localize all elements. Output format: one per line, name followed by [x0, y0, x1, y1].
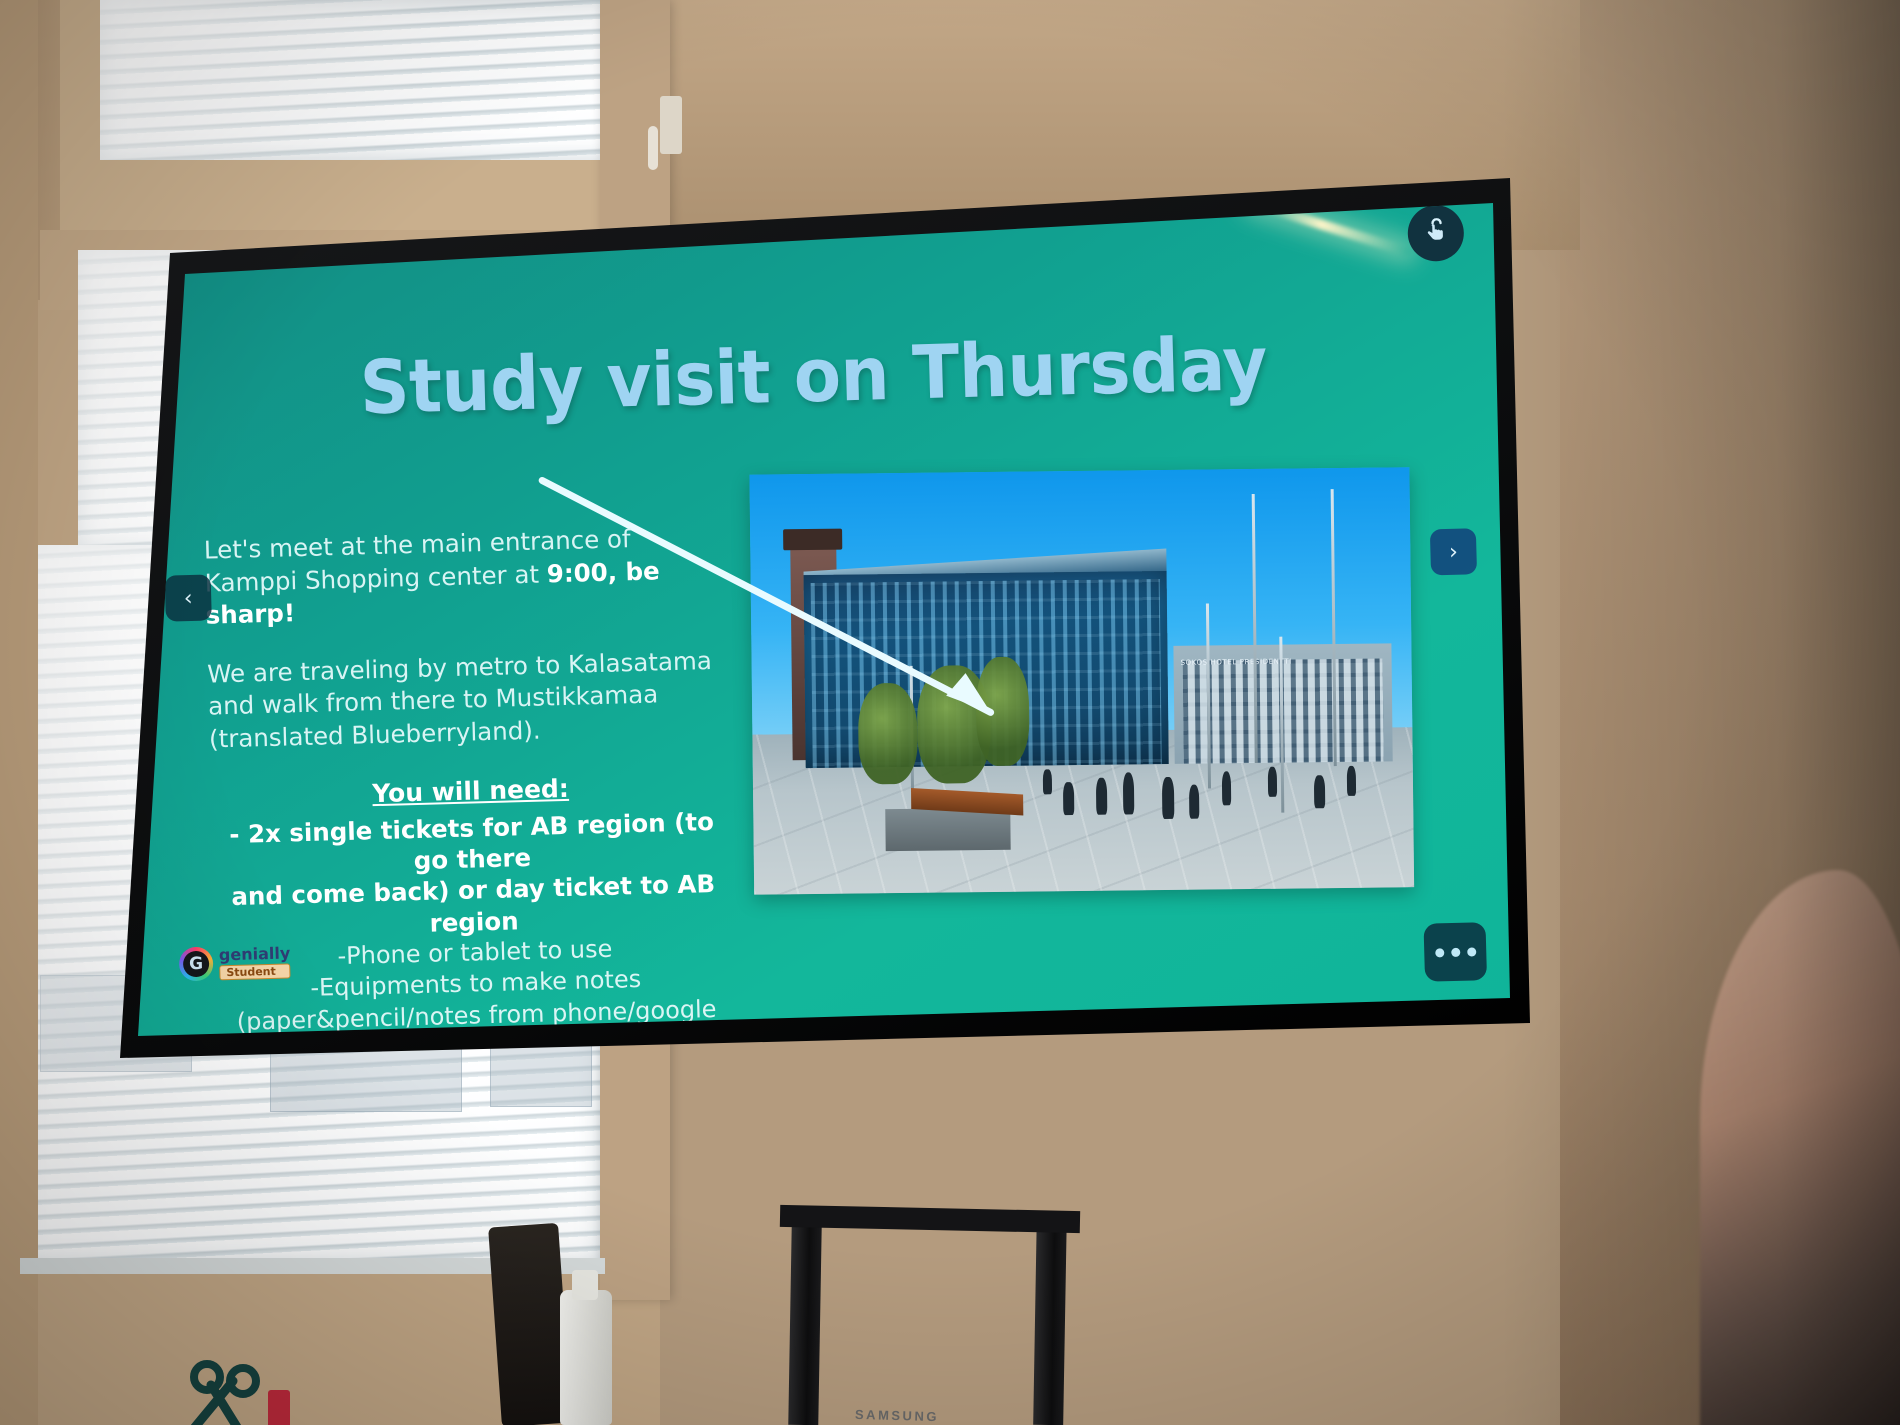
photo-person: [1096, 777, 1108, 815]
slide-title: Study visit on Thursday: [152, 315, 1474, 437]
paragraph-meeting-point: Let's meet at the main entrance of Kampp…: [204, 521, 726, 633]
dot-icon: [1451, 947, 1460, 956]
photo-tree: [976, 656, 1030, 766]
bottle-cap: [572, 1270, 598, 1300]
photo-tower-top: [783, 528, 843, 550]
photo-person: [1268, 767, 1278, 796]
photo-person: [1063, 782, 1074, 816]
genially-slide: Study visit on Thursday SOKOS HOTEL PRES…: [110, 178, 1530, 1058]
dot-icon: [1467, 947, 1476, 956]
television: SAMSUNG Study visit on Thursday SOKOS HO…: [110, 178, 1530, 1058]
photo-person: [1314, 775, 1325, 809]
photo-hotel-sign: SOKOS HOTEL PRESIDENTTI: [1181, 658, 1292, 667]
chevron-right-icon: ›: [1449, 539, 1458, 564]
samsung-logo: SAMSUNG: [855, 1407, 939, 1424]
photo-person: [1043, 769, 1052, 794]
tv-screen: Study visit on Thursday SOKOS HOTEL PRES…: [110, 178, 1530, 1058]
photo-person: [1221, 772, 1231, 806]
window-latch[interactable]: [648, 126, 658, 170]
next-slide-button[interactable]: ›: [1430, 528, 1477, 575]
scissors-icon: [185, 1355, 285, 1425]
wall-shadow: [1500, 0, 1900, 1425]
dot-icon: [1435, 948, 1444, 957]
paragraph-route: We are traveling by metro to Kalasatama …: [207, 644, 729, 756]
kamppi-photo: SOKOS HOTEL PRESIDENTTI: [749, 467, 1414, 894]
photo-person: [1122, 773, 1134, 815]
tv-stand-bracket: [780, 1205, 1080, 1233]
genially-name: genially: [219, 945, 291, 963]
more-options-button[interactable]: [1423, 922, 1487, 982]
genially-logo-letter: G: [183, 951, 210, 978]
genially-plan-badge: Student: [219, 963, 291, 980]
photo-bench-plinth: [885, 808, 1011, 851]
photo-person: [1347, 766, 1357, 795]
prev-slide-button[interactable]: ‹: [165, 574, 212, 621]
photo-tree: [857, 683, 918, 784]
photo-person: [1189, 785, 1200, 819]
photo-person: [1162, 776, 1174, 818]
genially-text-block: genially Student: [219, 945, 291, 980]
genially-logo-icon: G: [179, 947, 214, 982]
window-handle-plate[interactable]: [660, 96, 682, 154]
tap-hand-icon: [1420, 218, 1451, 249]
window-side-jamb: [0, 0, 38, 1425]
photo-of-room-with-tv: SAMSUNG Study visit on Thursday SOKOS HO…: [0, 0, 1900, 1425]
genially-branding[interactable]: G genially Student: [179, 944, 291, 981]
chevron-left-icon: ‹: [183, 585, 192, 610]
tv-stand-leg-right: [1033, 1215, 1067, 1425]
bottle: [560, 1290, 612, 1425]
tv-stand-leg-left: [788, 1225, 821, 1425]
interactive-elements-button[interactable]: [1407, 204, 1464, 261]
window-blinds-top: [100, 0, 620, 160]
